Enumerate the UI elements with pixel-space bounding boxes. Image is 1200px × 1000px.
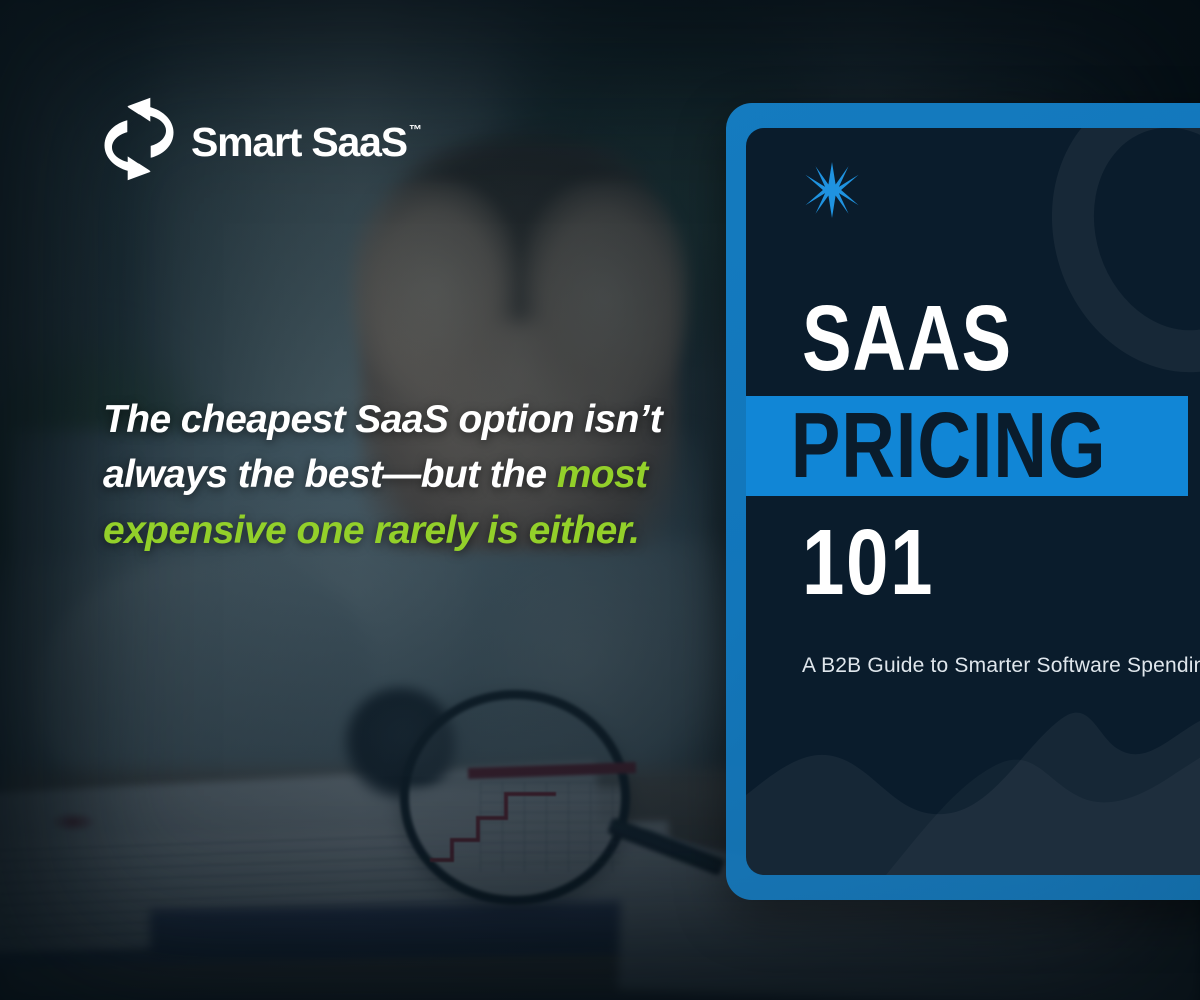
smart-saas-mark-icon: [103, 96, 175, 182]
brand-logo[interactable]: Smart SaaS ™: [103, 96, 422, 182]
cover-card: SAAS PRICING 101 A B2B Guide to Smarter …: [746, 128, 1200, 875]
eight-point-star-icon: [804, 162, 860, 218]
card-subtitle: A B2B Guide to Smarter Software Spending: [802, 650, 1200, 683]
card-title-line-2: PRICING: [746, 403, 1106, 489]
trademark-symbol: ™: [409, 123, 422, 136]
card-title-line-1: SAAS: [802, 296, 1141, 382]
brand-name: Smart SaaS: [191, 116, 407, 163]
cover-card-content: SAAS PRICING 101 A B2B Guide to Smarter …: [746, 128, 1200, 875]
card-title-line-3: 101: [802, 518, 1150, 606]
card-title-band: PRICING: [746, 396, 1188, 496]
headline: The cheapest SaaS option isn’t always th…: [103, 392, 713, 558]
brand-wordmark: Smart SaaS ™: [191, 116, 422, 163]
poster-canvas: Smart SaaS ™ The cheapest SaaS option is…: [0, 0, 1200, 1000]
